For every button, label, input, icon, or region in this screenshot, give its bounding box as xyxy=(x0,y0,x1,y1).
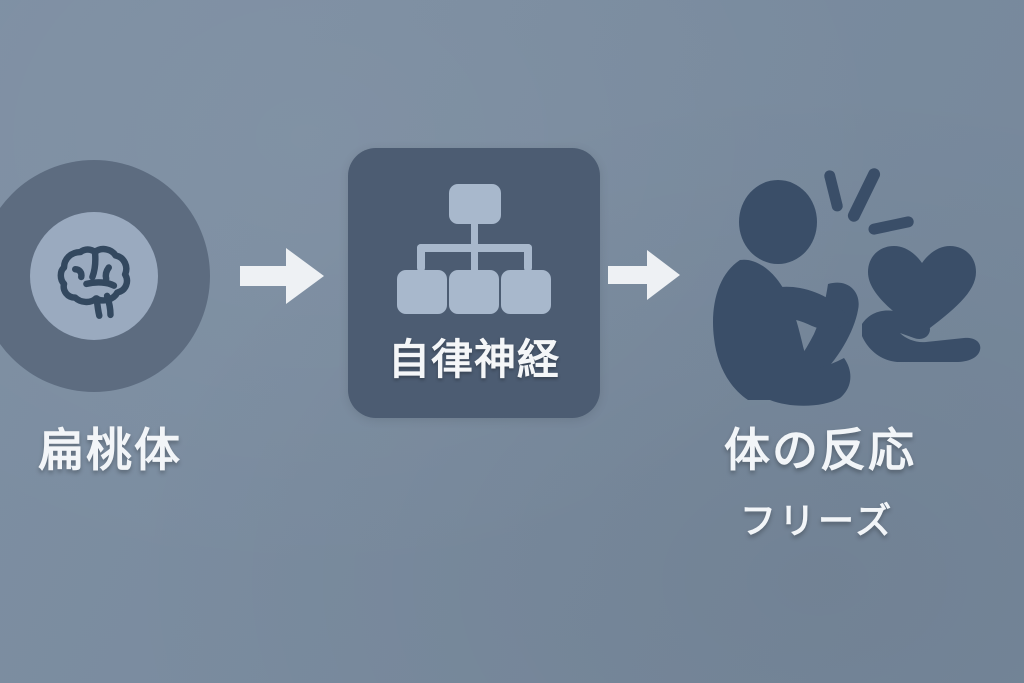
caption-amygdala: 扁桃体 xyxy=(38,414,182,480)
arrow-ans-to-body xyxy=(606,244,682,306)
arrow-amygdala-to-ans xyxy=(238,240,326,312)
stage-autonomic-nervous-system: 自律神経 xyxy=(348,148,600,418)
caption-freeze: フリーズ xyxy=(740,492,894,544)
caption-body-reaction: 体の反応 xyxy=(724,414,916,480)
heart-in-hand-icon xyxy=(860,238,984,362)
sitemap-hierarchy-icon xyxy=(391,182,557,322)
ans-label: 自律神経 xyxy=(348,326,600,387)
stage-body-reaction xyxy=(700,160,1000,410)
stage-amygdala xyxy=(0,160,232,392)
brain-icon xyxy=(52,234,138,320)
diagram-canvas: 自律神経 xyxy=(0,0,1024,683)
